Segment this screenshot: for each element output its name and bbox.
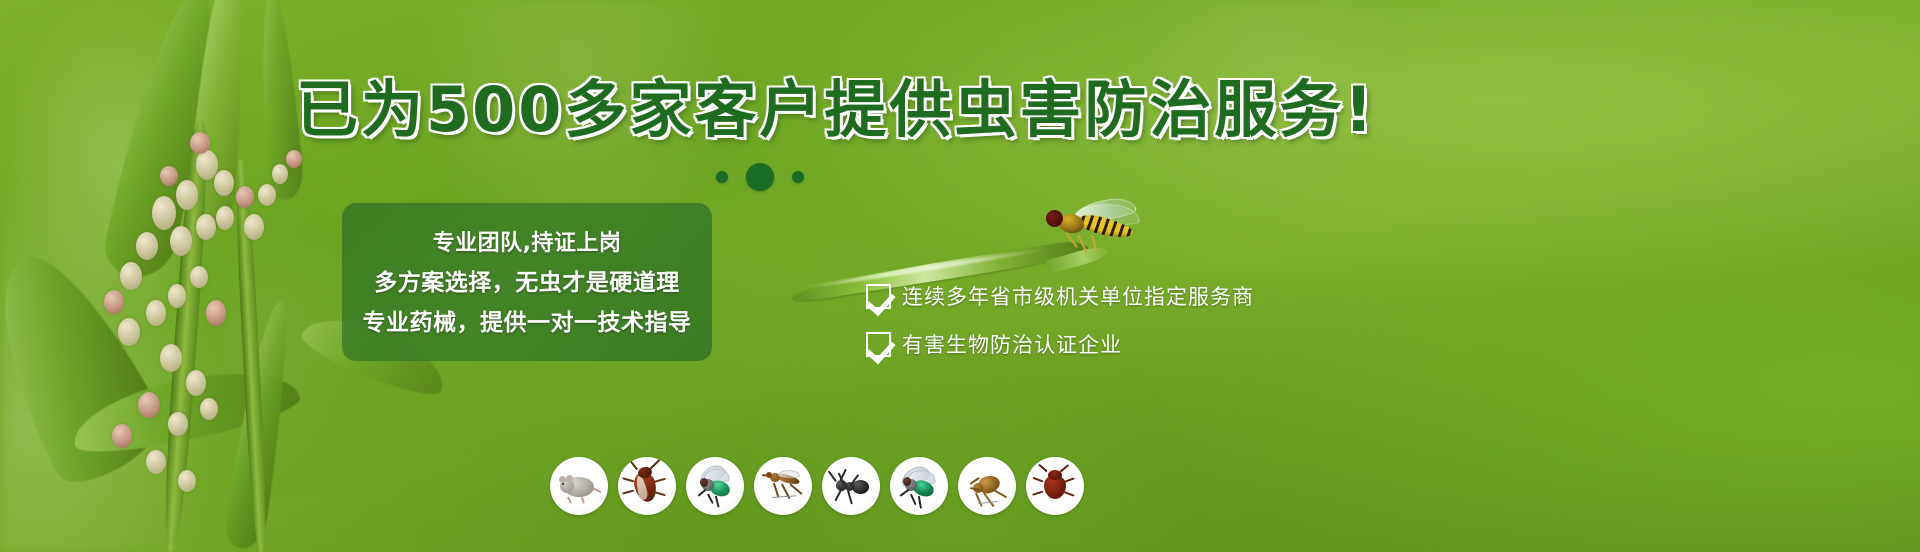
check-box-icon <box>866 332 891 357</box>
list-item: 连续多年省市级机关单位指定服务商 <box>866 272 1286 320</box>
credential-label: 连续多年省市级机关单位指定服务商 <box>902 281 1254 311</box>
dot-large-center-icon <box>746 163 774 191</box>
ant-icon <box>822 457 880 515</box>
feature-line-1: 专业团队,持证上岗 <box>433 225 622 257</box>
bedbug-icon <box>1026 457 1084 515</box>
hoverfly-icon <box>1046 196 1156 252</box>
promo-banner: 已为500多家客户提供虫害防治服务! 专业团队,持证上岗 多方案选择，无虫才是硬… <box>0 0 1920 552</box>
flea-icon <box>958 457 1016 515</box>
feature-panel: 专业团队,持证上岗 多方案选择，无虫才是硬道理 专业药械，提供一对一技术指导 <box>342 203 712 361</box>
housefly-icon <box>890 457 948 515</box>
list-item: 有害生物防治认证企业 <box>866 320 1286 368</box>
dot-small-right-icon <box>792 171 804 183</box>
blowfly-icon <box>686 457 744 515</box>
credential-list: 连续多年省市级机关单位指定服务商 有害生物防治认证企业 <box>866 272 1286 368</box>
mouse-icon <box>550 457 608 515</box>
feature-line-2: 多方案选择，无虫才是硬道理 <box>374 263 680 297</box>
check-box-icon <box>866 284 891 309</box>
dot-small-left-icon <box>716 171 728 183</box>
credential-label: 有害生物防治认证企业 <box>902 329 1122 359</box>
feature-line-3: 专业药械，提供一对一技术指导 <box>363 303 692 337</box>
cockroach-icon <box>618 457 676 515</box>
pest-icon-row <box>550 457 1084 515</box>
mosquito-icon <box>754 457 812 515</box>
decorative-dots <box>690 160 830 194</box>
page-title: 已为500多家客户提供虫害防治服务! <box>296 74 1296 146</box>
